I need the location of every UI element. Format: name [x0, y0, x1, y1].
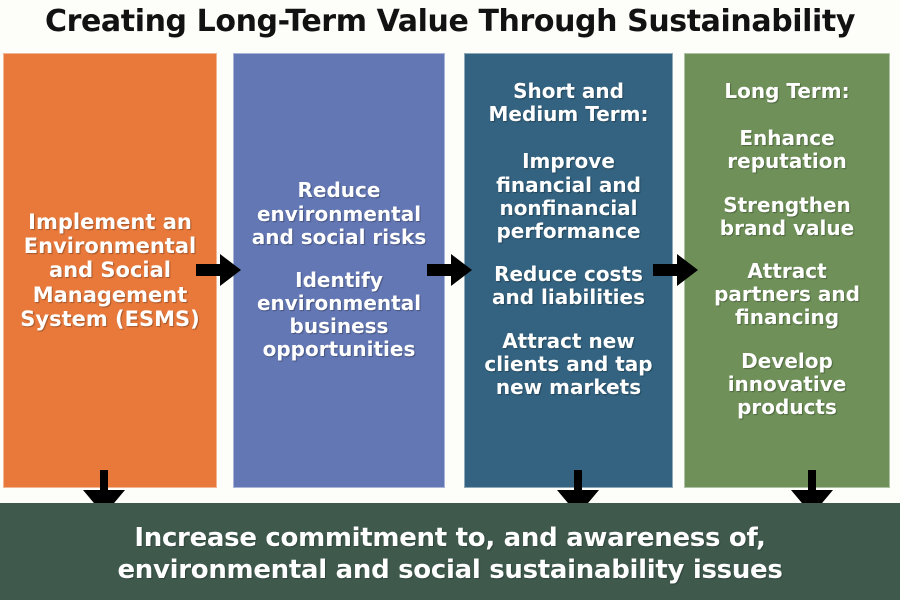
column-4-block-3: Attract partners and financing [697, 260, 877, 330]
column-4-heading: Long Term: [697, 80, 877, 103]
column-4-block-1: Enhance reputation [697, 127, 877, 173]
column-3-block-3: Attract new clients and tap new markets [477, 330, 660, 400]
column-2-block-1: Reduce environmental and social risks [246, 179, 432, 249]
column-long-term: Long Term: Enhance reputation Strengthen… [684, 53, 890, 488]
outcome-banner: Increase commitment to, and awareness of… [0, 503, 900, 600]
diagram-canvas: Creating Long-Term Value Through Sustain… [0, 0, 900, 600]
arrow-right-icon [196, 253, 242, 287]
arrow-right-icon [653, 253, 699, 287]
column-3-heading: Short and Medium Term: [477, 80, 660, 126]
arrow-right-icon [427, 253, 473, 287]
page-title: Creating Long-Term Value Through Sustain… [0, 0, 900, 46]
column-3-block-1: Improve financial and nonfinancial perfo… [477, 150, 660, 243]
column-implement-esms: Implement an Environmental and Social Ma… [3, 53, 217, 488]
column-3-block-2: Reduce costs and liabilities [477, 263, 660, 309]
outcome-banner-text: Increase commitment to, and awareness of… [99, 523, 800, 585]
column-reduce-risks: Reduce environmental and social risks Id… [233, 53, 445, 488]
outcome-banner-line-1: Increase commitment to, and awareness of… [117, 523, 782, 554]
column-short-medium-term: Short and Medium Term: Improve financial… [464, 53, 673, 488]
column-1-block-1: Implement an Environmental and Social Ma… [16, 210, 204, 332]
column-4-block-2: Strengthen brand value [697, 194, 877, 240]
outcome-banner-line-2: environmental and social sustainability … [117, 555, 782, 586]
column-4-block-4: Develop innovative products [697, 350, 877, 420]
column-2-block-2: Identify environmental business opportun… [246, 269, 432, 362]
